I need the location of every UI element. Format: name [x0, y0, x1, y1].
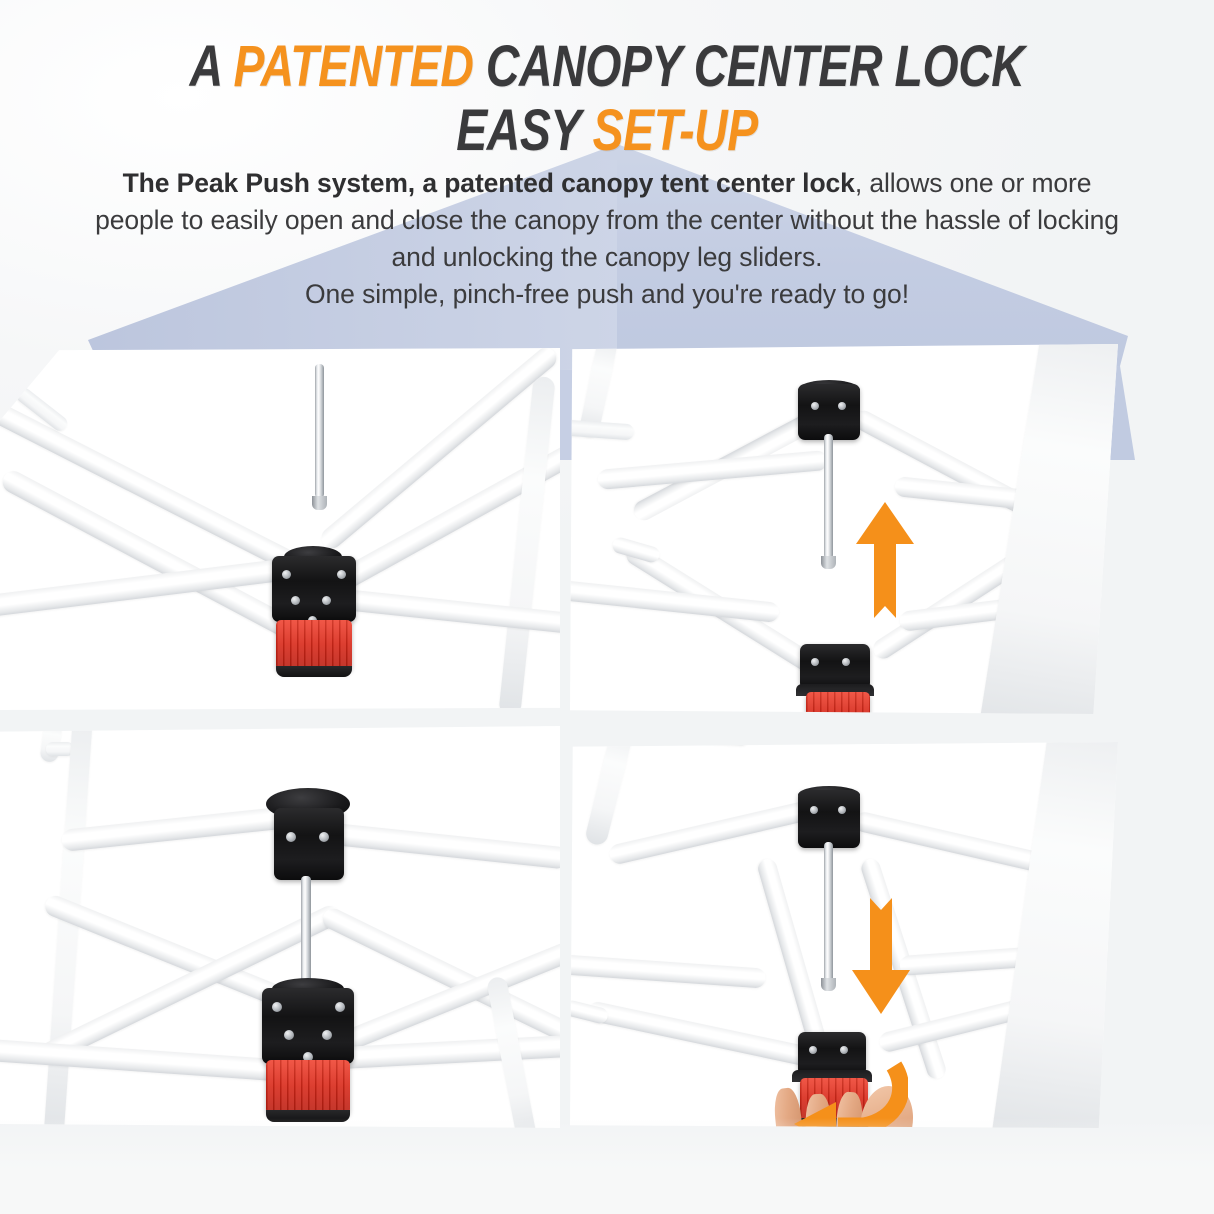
panel-locked-center-lock[interactable]: [0, 726, 560, 1128]
title-part-2: CANOPY CENTER LOCK: [473, 34, 1024, 99]
panel-push-up-center-lock[interactable]: [570, 344, 1118, 714]
bottom-fade: [0, 1118, 1214, 1214]
panel-closed-center-lock[interactable]: [0, 348, 560, 710]
red-release-knob[interactable]: [806, 692, 870, 714]
header: A PATENTED CANOPY CENTER LOCK EASY SET-U…: [0, 0, 1214, 160]
push-rod: [315, 364, 324, 498]
extended-push-rod: [824, 434, 833, 559]
subtitle-part-1: EASY: [456, 98, 592, 163]
extended-push-rod: [824, 842, 833, 982]
description-bold-lead: The Peak Push system, a patented canopy …: [123, 168, 855, 198]
panel-release-twist-center-lock[interactable]: [570, 742, 1118, 1128]
arrow-up-icon: [854, 500, 916, 620]
page-title-line-1: A PATENTED CANOPY CENTER LOCK: [121, 0, 1092, 96]
top-hub: [798, 384, 860, 440]
upper-hub: [274, 808, 344, 880]
infographic-page: A PATENTED CANOPY CENTER LOCK EASY SET-U…: [0, 0, 1214, 1214]
connecting-rod: [301, 876, 311, 988]
red-release-knob[interactable]: [276, 620, 352, 672]
photo-push-up-center-lock: [570, 344, 1118, 714]
center-hub: [272, 556, 356, 622]
photo-release-twist-center-lock: [570, 742, 1118, 1128]
description-closing: One simple, pinch-free push and you're r…: [87, 276, 1127, 313]
title-part-1: A: [190, 34, 234, 99]
photo-closed-center-lock: [0, 348, 560, 710]
photo-locked-center-lock: [0, 726, 560, 1128]
description-paragraph: The Peak Push system, a patented canopy …: [87, 165, 1127, 313]
page-title-line-2: EASY SET-UP: [121, 96, 1092, 160]
top-hub: [798, 790, 860, 848]
red-release-knob[interactable]: [266, 1060, 350, 1116]
title-highlight-patented: PATENTED: [233, 34, 473, 99]
subtitle-highlight-setup: SET-UP: [593, 98, 758, 163]
arrow-down-icon: [850, 894, 912, 1016]
